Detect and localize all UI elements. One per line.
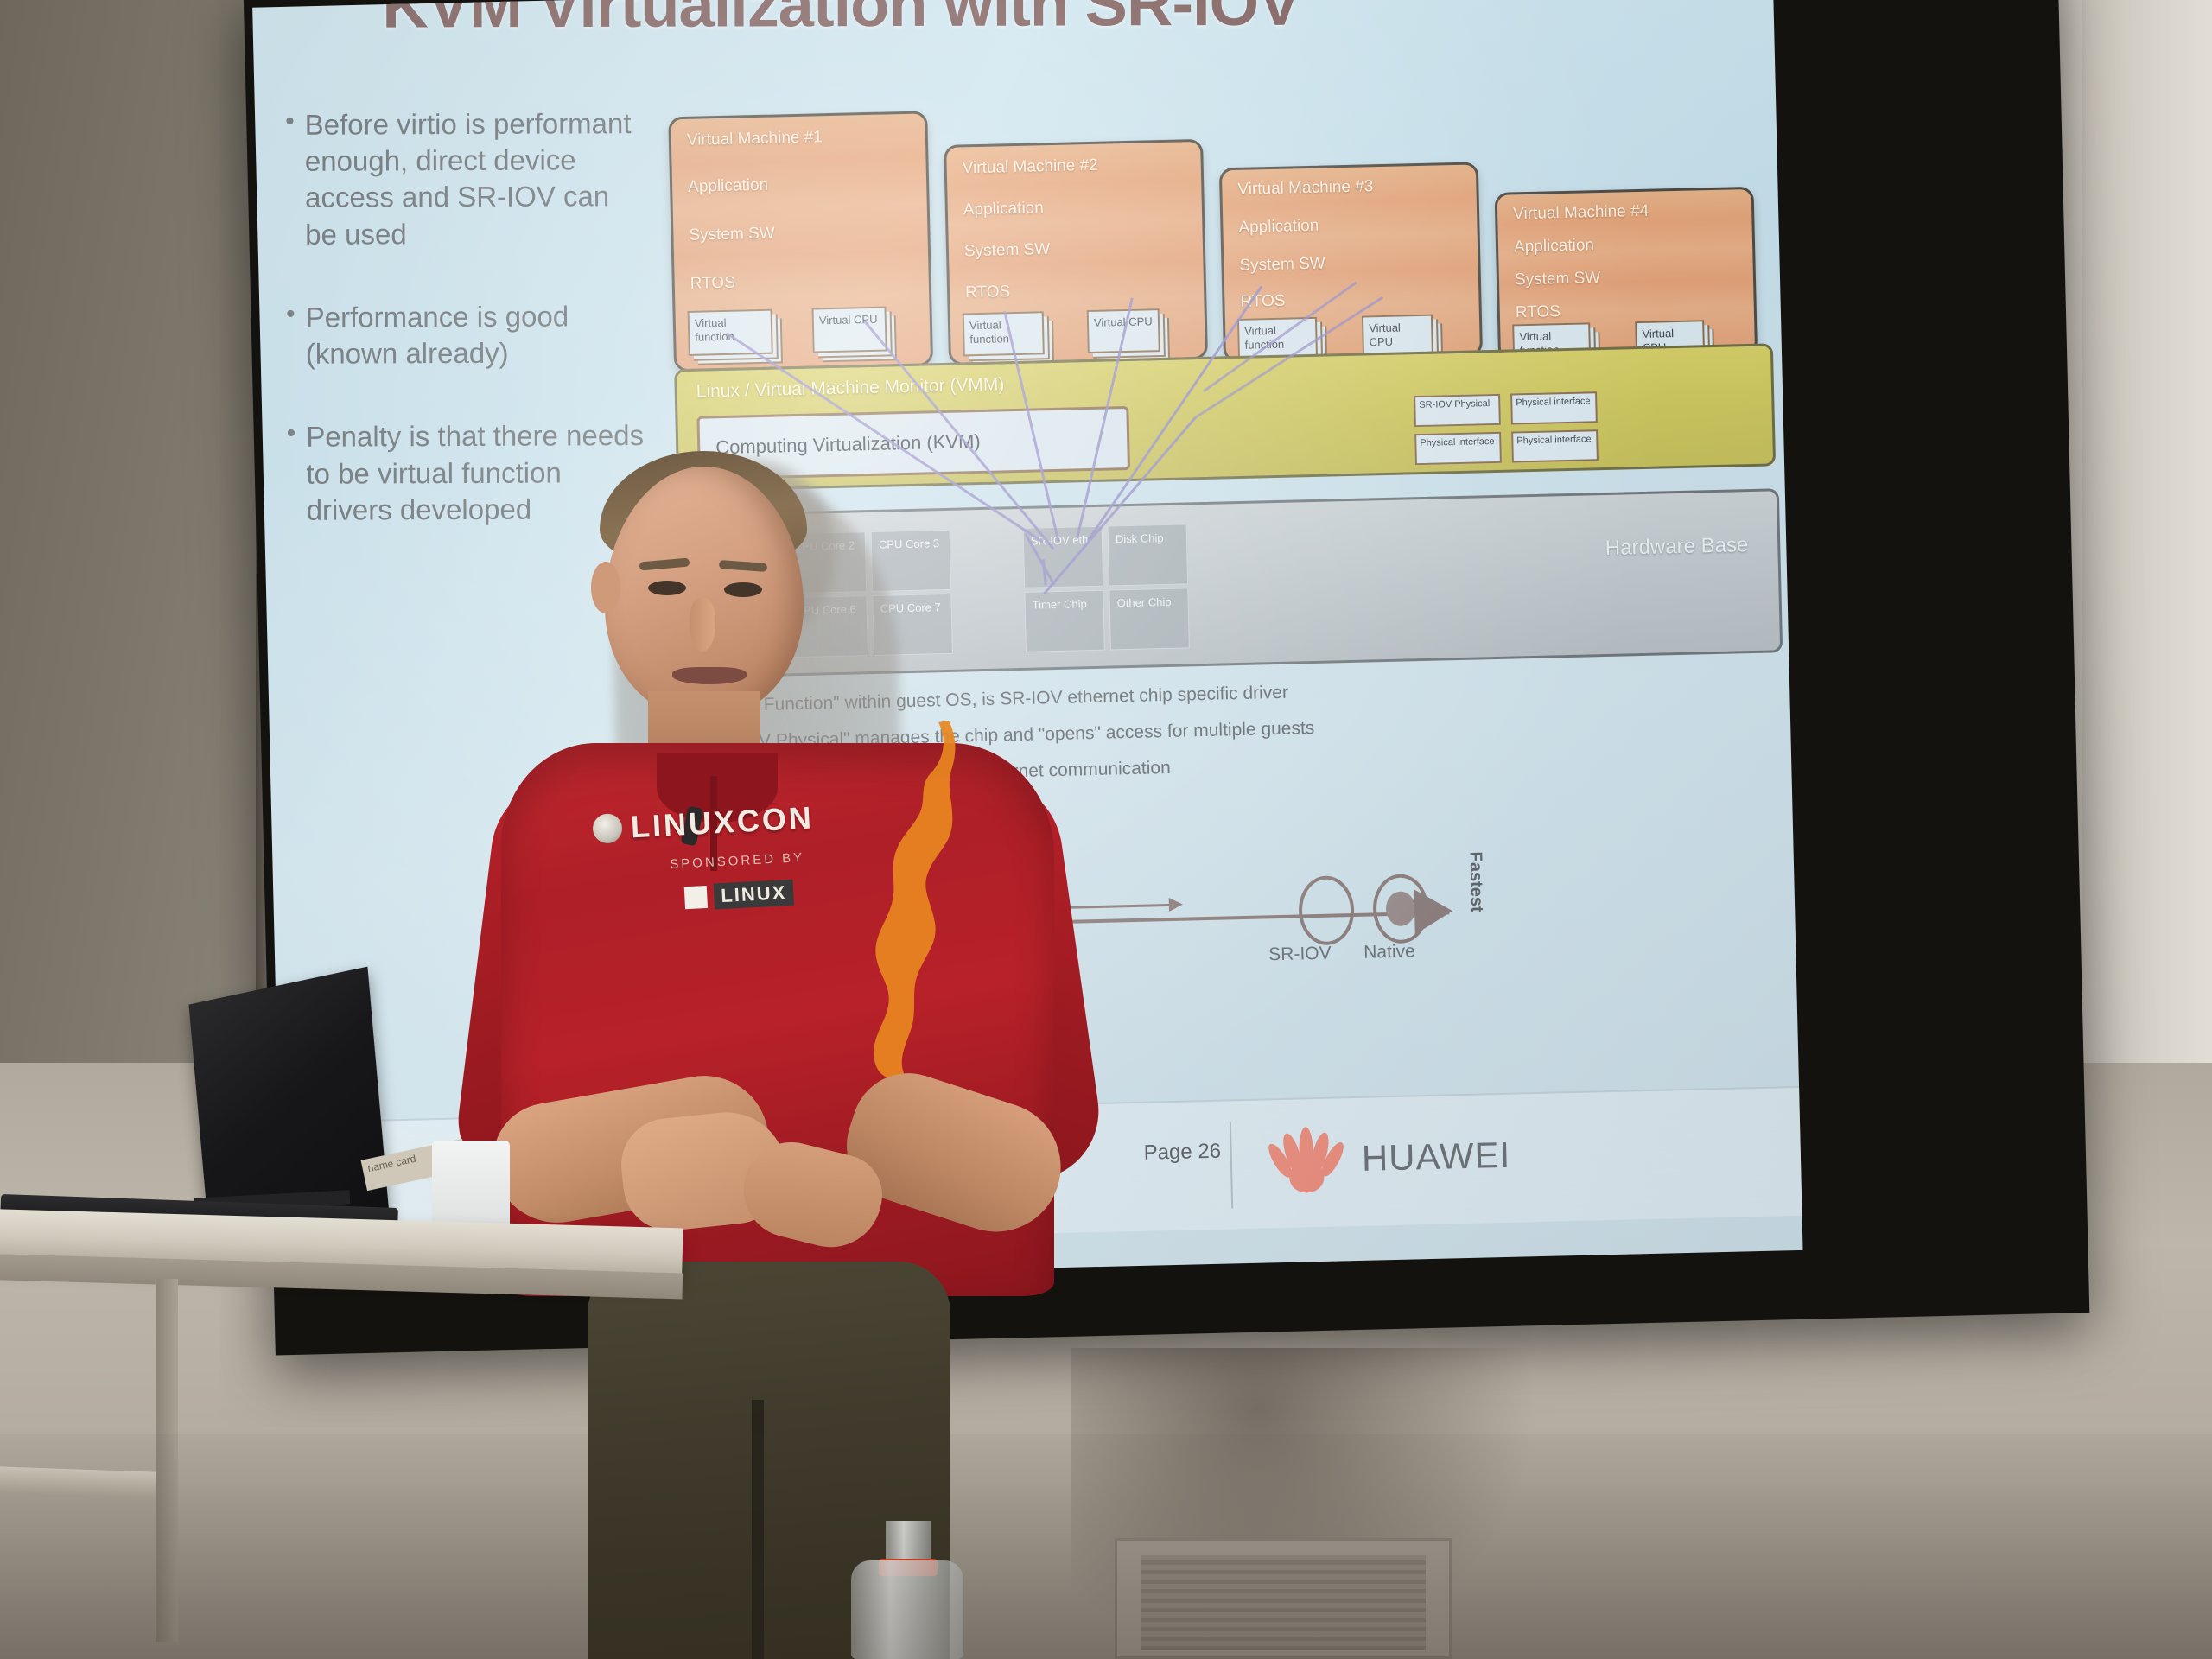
linux-badge-text: LINUX — [714, 880, 794, 910]
wall-column-left — [0, 0, 259, 1080]
bullet-marker-icon: • — [285, 107, 295, 253]
vm-layer-application: Application — [688, 176, 768, 197]
sponsored-by-text: SPONSORED BY — [594, 846, 880, 875]
disk-chip-cell: Disk Chip — [1108, 524, 1189, 586]
speaker-eye-right — [724, 582, 762, 597]
vm-layer-application: Application — [1238, 217, 1319, 238]
timeline-label-sriov: SR-IOV — [1268, 944, 1332, 966]
virtual-cpu-stack: Virtual CPU — [1087, 308, 1160, 353]
tshirt-print: LINUXCON SPONSORED BY LINUX — [592, 797, 886, 984]
sriov-physical-cell: SR-IOV Physical — [1414, 394, 1501, 427]
vm-title: Virtual Machine #1 — [687, 128, 823, 150]
vm-layer-system-sw: System SW — [1515, 269, 1601, 289]
timeline-head-arrow-icon — [1414, 888, 1453, 934]
virtual-function-stack: Virtual function — [963, 311, 1045, 356]
linuxcon-mark-icon — [592, 813, 623, 844]
footer-divider — [1230, 1122, 1233, 1208]
bullet-item: • Before virtio is performant enough, di… — [285, 105, 649, 253]
vm-layer-rtos: RTOS — [1516, 302, 1561, 322]
timeline-axis-label-fastest: Fastest — [1465, 851, 1487, 912]
speaker-mouth — [672, 667, 747, 684]
vm-layer-system-sw: System SW — [1239, 255, 1325, 276]
physical-interface-cell: Physical interface — [1414, 432, 1502, 465]
bullet-item: • Performance is good (known already) — [286, 298, 649, 372]
speaker-ear — [591, 562, 620, 613]
virtual-machine-box-1: Virtual Machine #1 Application System SW… — [668, 111, 933, 372]
speaker-nose — [690, 598, 715, 652]
vm-layer-rtos: RTOS — [690, 274, 736, 294]
vm-title: Virtual Machine #4 — [1513, 202, 1649, 225]
vm-title: Virtual Machine #3 — [1237, 177, 1374, 200]
vm-layer-application: Application — [1514, 236, 1594, 257]
virtual-cpu-stack: Virtual CPU — [1362, 315, 1433, 356]
virtual-machine-box-3: Virtual Machine #3 Application System SW… — [1219, 162, 1483, 362]
vm-layer-system-sw: System SW — [964, 240, 1051, 261]
virtual-machines-row: Virtual Machine #1 Application System SW… — [668, 84, 1771, 378]
slide-title: KVM Virtualization with SR-IOV — [382, 0, 1505, 42]
timeline-node-sriov — [1298, 875, 1355, 945]
vm-layer-system-sw: System SW — [689, 225, 775, 245]
timeline-label-native: Native — [1363, 941, 1415, 963]
vm-layer-application: Application — [963, 199, 1044, 219]
other-chip-cell: Other Chip — [1109, 588, 1190, 650]
page-number: Page 26 — [1143, 1140, 1221, 1166]
physical-interface-cell: Physical interface — [1511, 429, 1599, 462]
virtual-function-stack: Virtual function — [1237, 317, 1318, 359]
room-floor-gradient — [0, 1434, 2212, 1659]
huawei-flower-logo-icon — [1264, 1124, 1349, 1195]
bullet-text: Before virtio is performant enough, dire… — [305, 105, 649, 253]
bullet-text: Performance is good (known already) — [306, 298, 650, 372]
vm-layer-rtos: RTOS — [965, 283, 1011, 302]
virtual-machine-box-4: Virtual Machine #4 Application System SW… — [1495, 187, 1758, 361]
vm-layer-rtos: RTOS — [1240, 292, 1286, 312]
huawei-wordmark: HUAWEI — [1361, 1135, 1511, 1179]
vm-title: Virtual Machine #2 — [962, 156, 1098, 179]
brand-lockup: HUAWEI — [1264, 1121, 1511, 1196]
timeline-node-native-fill — [1386, 891, 1416, 926]
bullet-marker-icon: • — [286, 300, 296, 373]
presentation-photo-scene: KVM Virtualization with SR-IOV • Before … — [0, 0, 2212, 1659]
linux-badge-square-icon — [684, 886, 708, 909]
virtual-cpu-stack: Virtual CPU — [811, 307, 887, 353]
linux-foundation-badge: LINUX — [596, 874, 882, 915]
physical-interface-cell: Physical interface — [1510, 391, 1598, 424]
sriov-interface-grid: SR-IOV Physical Physical interface Physi… — [1414, 391, 1605, 467]
japan-map-graphic-icon — [855, 717, 985, 1080]
vmm-band-title: Linux / Virtual Machine Monitor (VMM) — [696, 374, 1004, 402]
hardware-base-label: Hardware Base — [1605, 533, 1749, 561]
virtual-function-stack: Virtual function — [688, 309, 773, 356]
bullet-marker-icon: • — [287, 419, 296, 529]
virtual-machine-box-2: Virtual Machine #2 Application System SW… — [944, 139, 1208, 365]
speaker-eye-left — [648, 581, 686, 595]
